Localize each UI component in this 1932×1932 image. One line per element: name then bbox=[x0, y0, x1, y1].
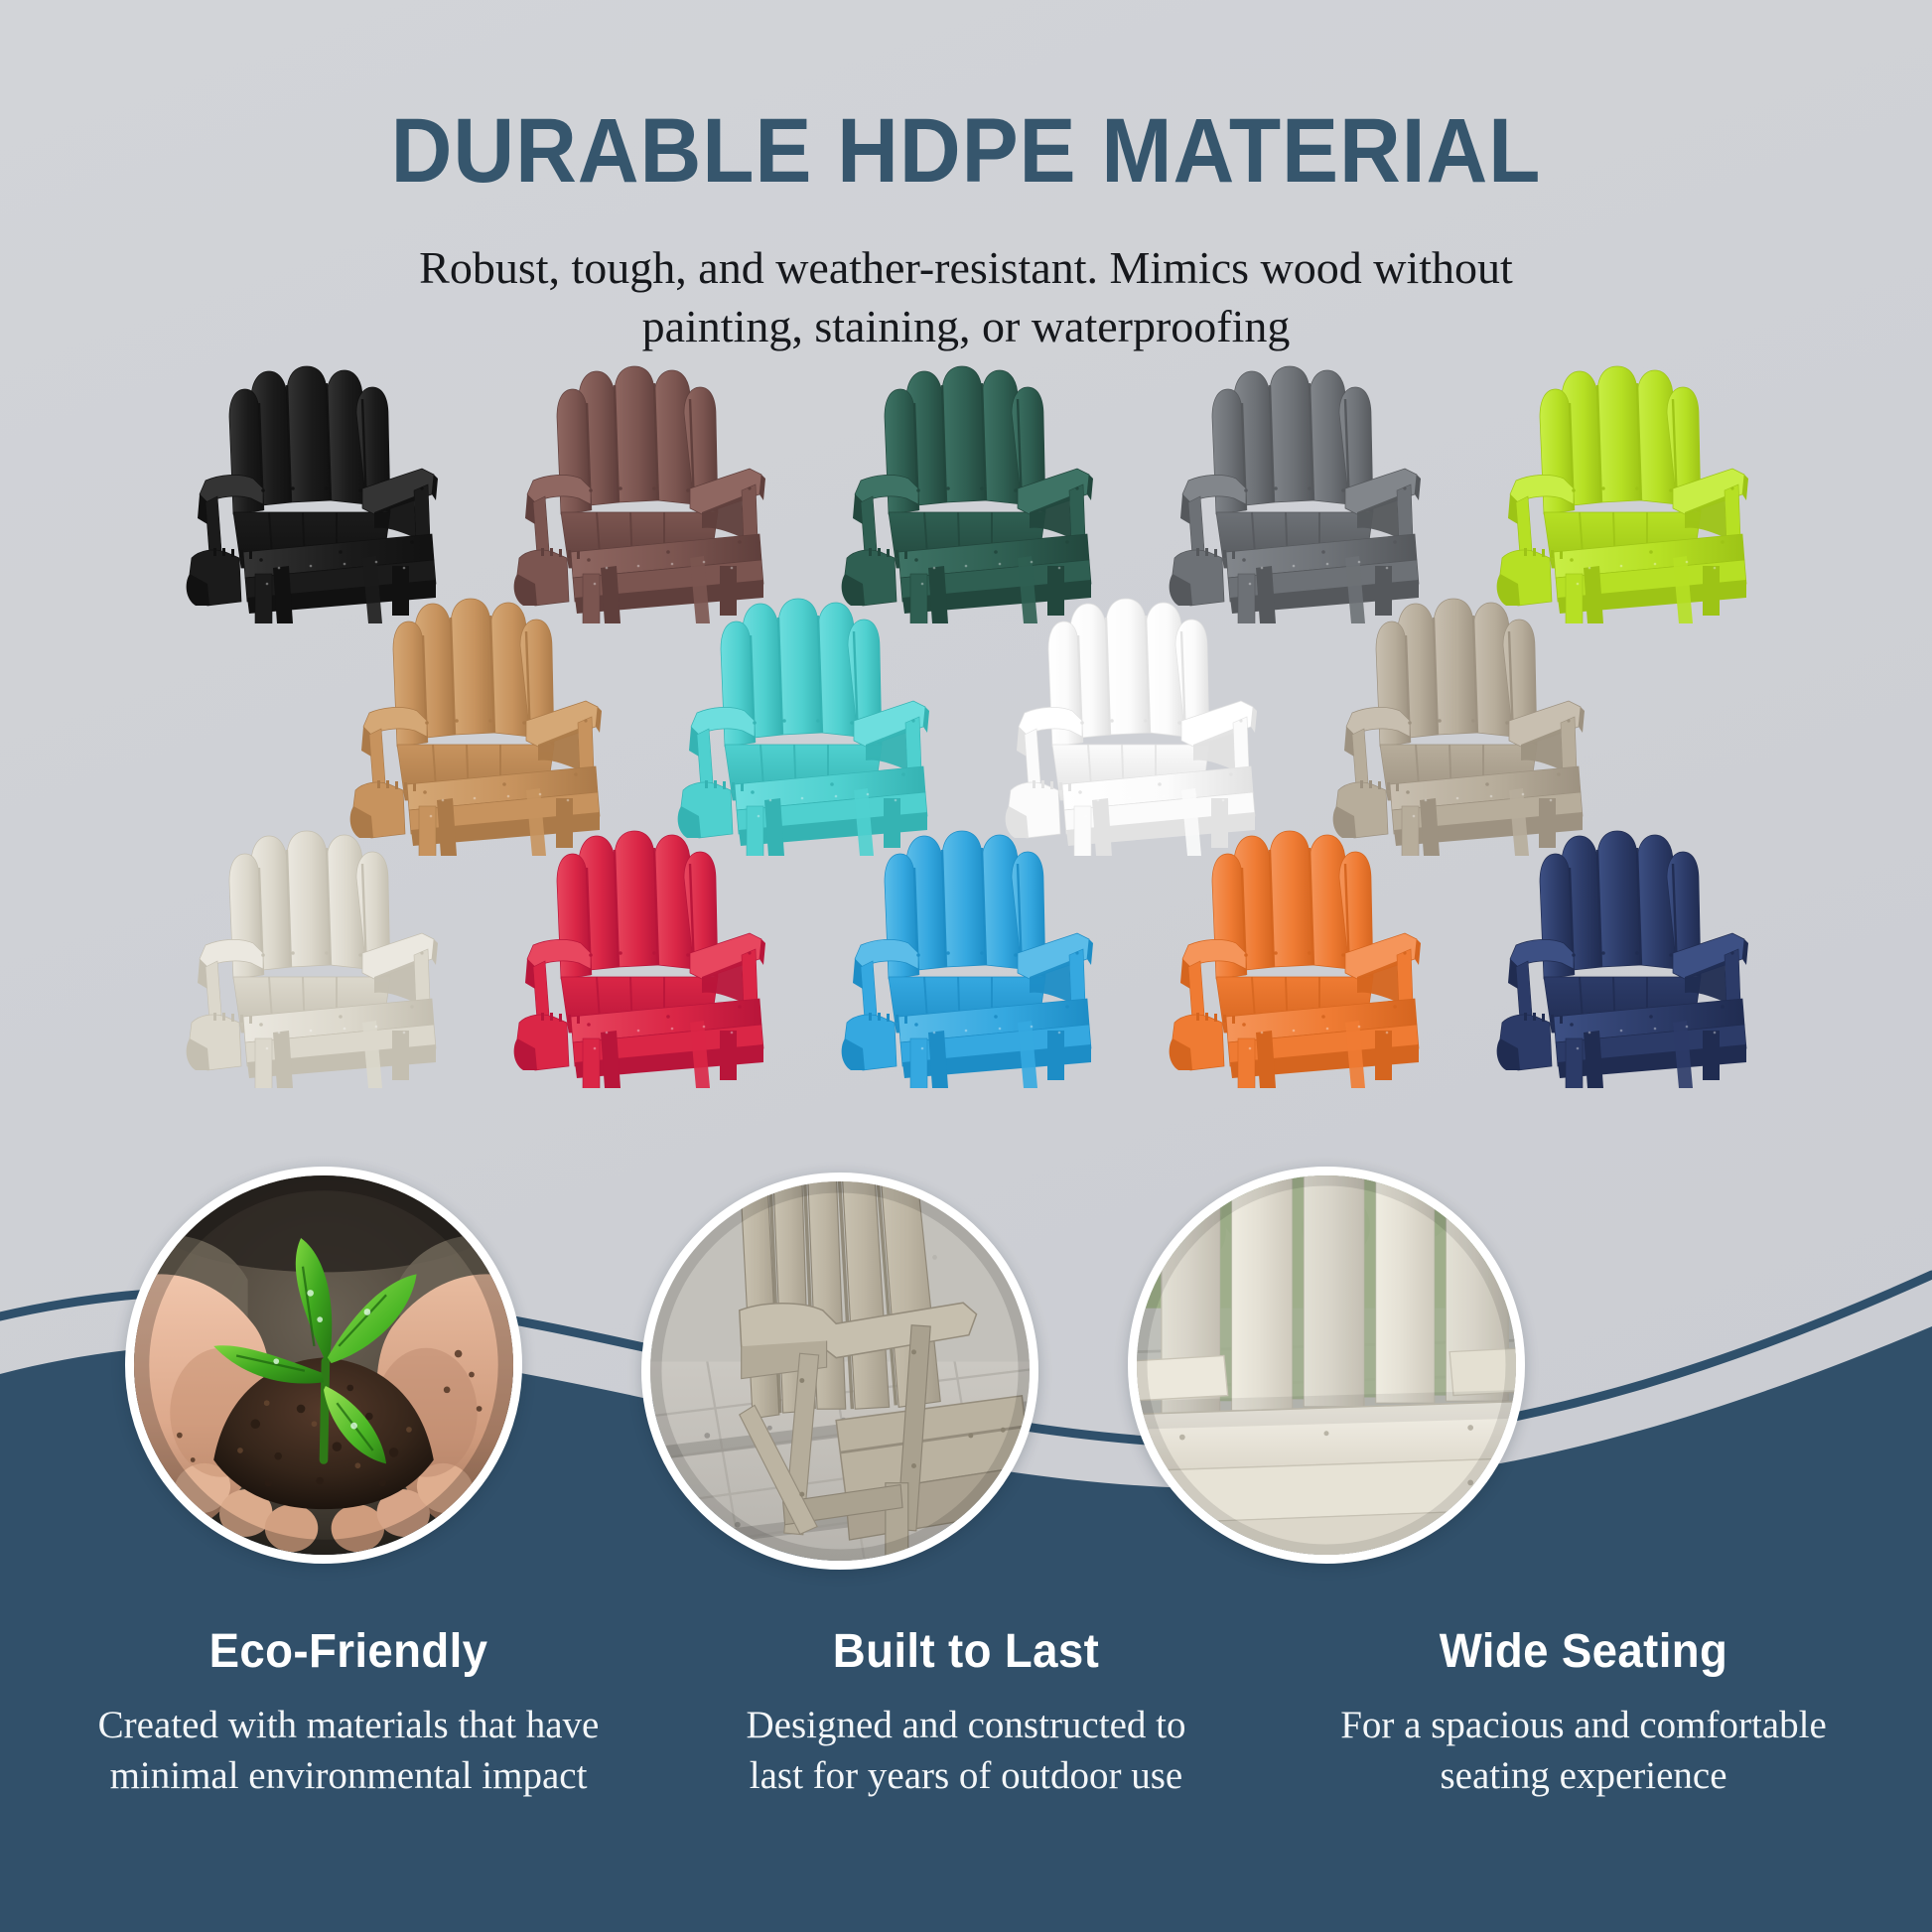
feature-desc-line-2: minimal environmental impact bbox=[110, 1754, 588, 1797]
chair-swatch-orange[interactable] bbox=[1161, 828, 1427, 1088]
white-chair-wide-seat-icon bbox=[1137, 1175, 1516, 1555]
page-subtitle: Robust, tough, and weather-resistant. Mi… bbox=[0, 239, 1932, 356]
subtitle-line-1: Robust, tough, and weather-resistant. Mi… bbox=[419, 242, 1513, 293]
feature-photo-eco-friendly bbox=[125, 1167, 522, 1564]
chair-swatch-ivory[interactable] bbox=[178, 828, 444, 1088]
feature-heading-wide-seating: Wide Seating bbox=[1291, 1624, 1877, 1679]
beige-chair-photo-icon bbox=[650, 1181, 1030, 1561]
feature-desc-line-2: seating experience bbox=[1440, 1754, 1726, 1797]
chair-swatch-brown[interactable] bbox=[505, 363, 771, 623]
chair-color-grid bbox=[0, 363, 1932, 1088]
chair-row-2 bbox=[0, 596, 1932, 856]
hands-holding-seedling-icon bbox=[134, 1175, 513, 1555]
adirondack-chair-svg bbox=[1488, 363, 1754, 623]
feature-desc-built-to-last: Designed and constructed to last for yea… bbox=[657, 1701, 1275, 1801]
chair-swatch-light-blue[interactable] bbox=[833, 828, 1099, 1088]
chair-swatch-red[interactable] bbox=[505, 828, 771, 1088]
feature-desc-line-1: Created with materials that have bbox=[98, 1704, 600, 1746]
feature-heading-eco-friendly: Eco-Friendly bbox=[56, 1624, 642, 1679]
adirondack-chair-svg bbox=[669, 596, 935, 856]
chair-swatch-gray[interactable] bbox=[1161, 363, 1427, 623]
feature-heading-built-to-last: Built to Last bbox=[673, 1624, 1260, 1679]
adirondack-chair-svg bbox=[1488, 828, 1754, 1088]
chair-row-1 bbox=[0, 363, 1932, 623]
adirondack-chair-svg bbox=[505, 363, 771, 623]
feature-column-wide-seating: Wide Seating For a spacious and comforta… bbox=[1275, 1604, 1892, 1801]
adirondack-chair-svg bbox=[1161, 363, 1427, 623]
feature-desc-line-2: last for years of outdoor use bbox=[750, 1754, 1182, 1797]
chair-swatch-teak-tan[interactable] bbox=[342, 596, 608, 856]
chair-swatch-black[interactable] bbox=[178, 363, 444, 623]
chair-swatch-white[interactable] bbox=[997, 596, 1263, 856]
chair-swatch-navy-blue[interactable] bbox=[1488, 828, 1754, 1088]
infographic-canvas: DURABLE HDPE MATERIAL Robust, tough, and… bbox=[0, 0, 1932, 1932]
adirondack-chair-svg bbox=[178, 828, 444, 1088]
chair-swatch-turquoise[interactable] bbox=[669, 596, 935, 856]
chair-swatch-dark-green[interactable] bbox=[833, 363, 1099, 623]
adirondack-chair-svg bbox=[833, 828, 1099, 1088]
feature-text-columns: Eco-Friendly Created with materials that… bbox=[0, 1604, 1932, 1932]
chair-swatch-lime-green[interactable] bbox=[1488, 363, 1754, 623]
feature-desc-line-1: For a spacious and comfortable bbox=[1340, 1704, 1827, 1746]
feature-column-built-to-last: Built to Last Designed and constructed t… bbox=[657, 1604, 1275, 1801]
chair-swatch-beige[interactable] bbox=[1324, 596, 1590, 856]
header: DURABLE HDPE MATERIAL Robust, tough, and… bbox=[0, 0, 1932, 356]
feature-photo-wide-seating bbox=[1128, 1167, 1525, 1564]
adirondack-chair-svg bbox=[833, 363, 1099, 623]
feature-photo-built-to-last bbox=[641, 1173, 1038, 1570]
adirondack-chair-svg bbox=[505, 828, 771, 1088]
adirondack-chair-svg bbox=[1161, 828, 1427, 1088]
feature-desc-line-1: Designed and constructed to bbox=[747, 1704, 1186, 1746]
feature-photo-circles bbox=[0, 1167, 1932, 1584]
feature-desc-eco-friendly: Created with materials that have minimal… bbox=[40, 1701, 657, 1801]
adirondack-chair-svg bbox=[342, 596, 608, 856]
subtitle-line-2: painting, staining, or waterproofing bbox=[642, 301, 1291, 351]
adirondack-chair-svg bbox=[997, 596, 1263, 856]
feature-desc-wide-seating: For a spacious and comfortable seating e… bbox=[1275, 1701, 1892, 1801]
adirondack-chair-svg bbox=[1324, 596, 1590, 856]
feature-column-eco-friendly: Eco-Friendly Created with materials that… bbox=[40, 1604, 657, 1801]
adirondack-chair-svg bbox=[178, 363, 444, 623]
chair-row-3 bbox=[0, 828, 1932, 1088]
page-title: DURABLE HDPE MATERIAL bbox=[68, 99, 1864, 204]
